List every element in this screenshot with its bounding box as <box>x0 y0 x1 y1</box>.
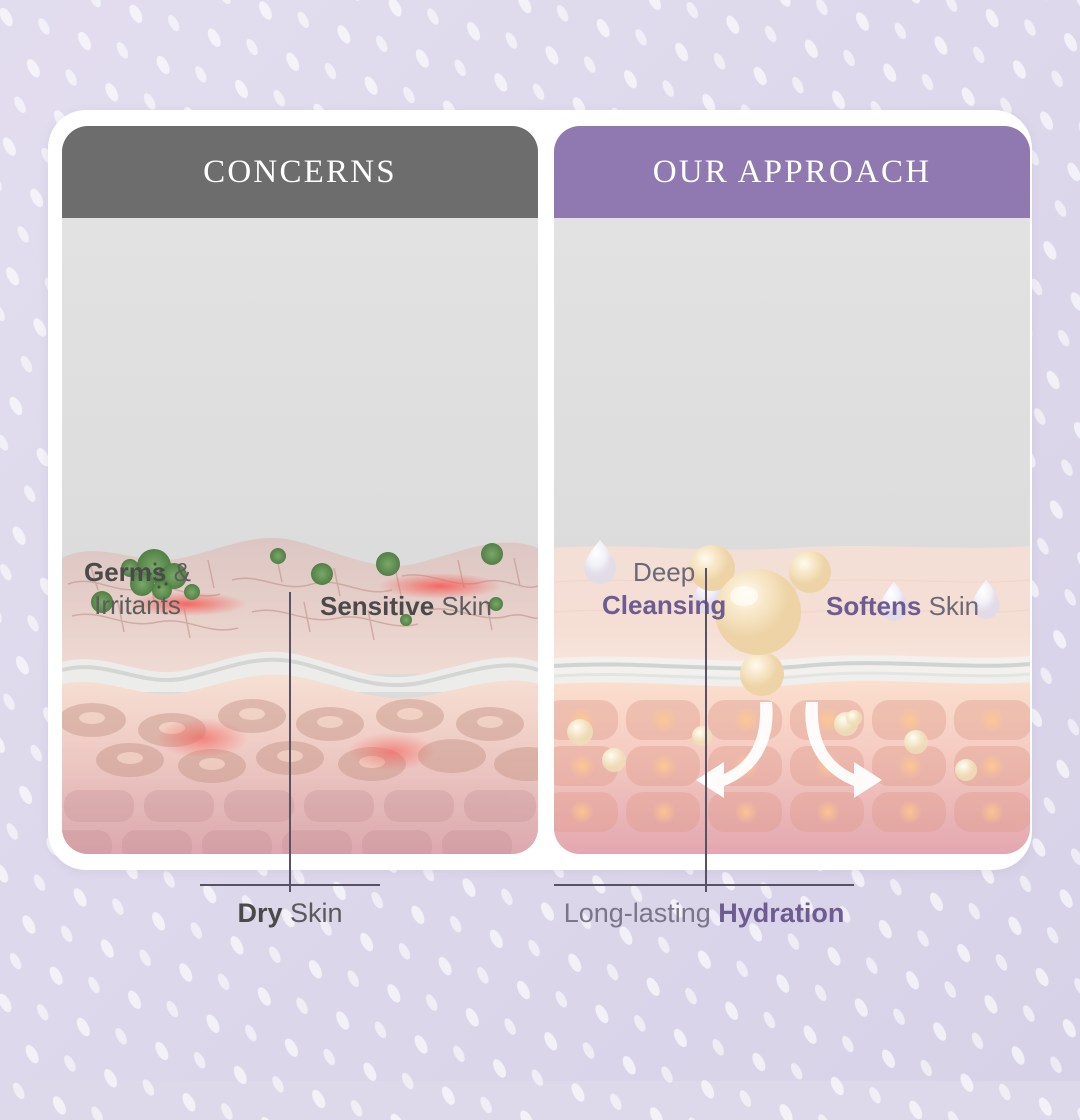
label-deep-cleansing: Deep Cleansing <box>602 556 726 623</box>
label-irritants: Irritants <box>94 590 181 620</box>
label-cleansing: Cleansing <box>602 590 726 620</box>
label-germs-amp: & <box>166 557 191 587</box>
panel-concerns-body: Germs & Irritants Sensitive Skin <box>62 218 538 854</box>
panel-concerns: CONCERNS Germs & Irritants Sensitive Ski… <box>62 126 538 854</box>
callout-rule <box>200 884 380 886</box>
label-deep: Deep <box>633 557 695 587</box>
germ <box>481 543 503 565</box>
comparison-card: CONCERNS Germs & Irritants Sensitive Ski… <box>48 110 1032 870</box>
label-germs-bold: Germs <box>84 557 166 587</box>
callout-dry-bold: Dry <box>237 898 282 928</box>
label-sensitive-bold: Sensitive <box>320 591 434 621</box>
inflammation <box>156 718 248 758</box>
pointer-line-dry-skin <box>289 592 291 892</box>
callout-rule <box>554 884 854 886</box>
callout-dry-normal: Skin <box>283 898 343 928</box>
germ <box>270 548 286 564</box>
germ <box>311 563 333 585</box>
inflammation <box>348 733 436 771</box>
panel-our-approach-body: Deep Cleansing Softens Skin <box>554 218 1030 854</box>
pointer-line-hydration <box>705 568 707 892</box>
panel-our-approach: OUR APPROACH Deep Cleansing Softens Skin <box>554 126 1030 854</box>
panel-our-approach-header: OUR APPROACH <box>554 126 1030 218</box>
label-germs-irritants: Germs & Irritants <box>84 556 191 623</box>
molecule-core-atom <box>715 569 801 655</box>
label-sensitive-normal: Skin <box>434 591 492 621</box>
callout-hydration-normal: Long-lasting <box>564 898 719 928</box>
label-softens-skin: Softens Skin <box>826 590 979 623</box>
label-sensitive-skin: Sensitive Skin <box>320 590 492 623</box>
callout-hydration-bold: Hydration <box>718 898 844 928</box>
germ <box>376 552 400 576</box>
callout-hydration: Long-lasting Hydration <box>554 884 854 929</box>
callout-dry-skin: Dry Skin <box>198 884 382 929</box>
panel-concerns-header: CONCERNS <box>62 126 538 218</box>
label-softens-normal: Skin <box>921 591 979 621</box>
label-softens-bold: Softens <box>826 591 921 621</box>
molecule-atom <box>789 551 831 593</box>
molecule-atom <box>740 652 784 696</box>
